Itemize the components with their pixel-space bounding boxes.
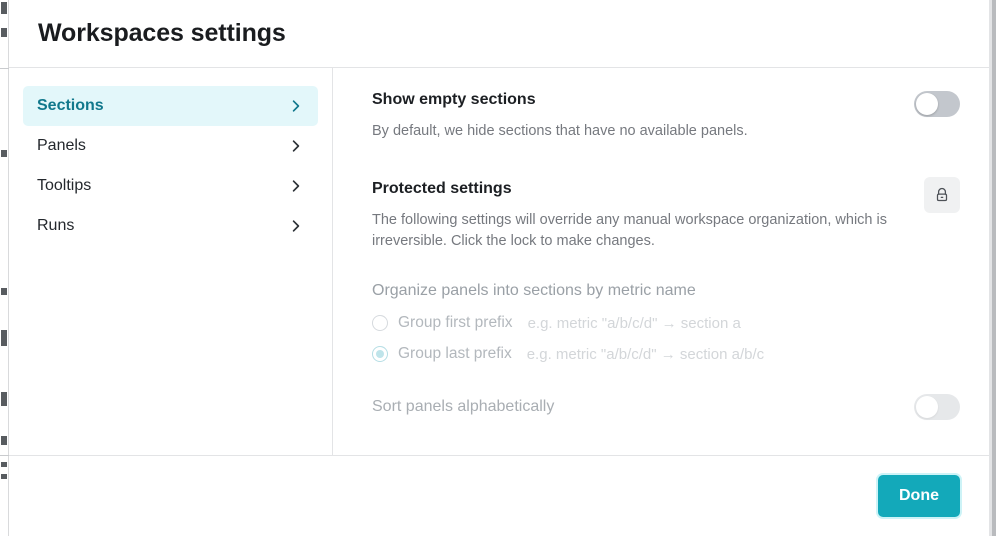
radio-option-group-first-prefix[interactable]: Group first prefix e.g. metric "a/b/c/d"… — [372, 314, 960, 332]
lock-closed-icon — [933, 186, 951, 204]
chevron-right-icon — [288, 138, 304, 154]
sidebar-item-label: Sections — [37, 97, 104, 115]
show-empty-sections-title: Show empty sections — [372, 90, 748, 110]
radio-option-group-last-prefix[interactable]: Group last prefix e.g. metric "a/b/c/d" … — [372, 345, 960, 363]
sidebar-item-label: Tooltips — [37, 177, 91, 195]
lock-toggle-button[interactable] — [924, 177, 960, 213]
radio-button-selected[interactable] — [372, 346, 388, 362]
show-empty-sections-toggle[interactable] — [914, 91, 960, 117]
settings-content: Show empty sections By default, we hide … — [333, 68, 989, 455]
organize-panels-heading: Organize panels into sections by metric … — [372, 281, 960, 301]
settings-sidebar: Sections Panels Tooltips — [9, 68, 333, 455]
radio-hint: e.g. metric "a/b/c/d" → section a/b/c — [527, 346, 764, 363]
workspaces-settings-modal: Workspaces settings Sections Panels — [9, 0, 989, 536]
chevron-right-icon — [288, 98, 304, 114]
show-empty-sections-setting: Show empty sections By default, we hide … — [372, 90, 960, 142]
radio-label: Group first prefix — [398, 314, 513, 332]
sidebar-item-panels[interactable]: Panels — [23, 126, 318, 166]
sort-panels-toggle[interactable] — [914, 394, 960, 420]
protected-settings-title: Protected settings — [372, 179, 892, 199]
organize-panels-group: Organize panels into sections by metric … — [372, 281, 960, 363]
spacer — [372, 142, 960, 179]
protected-settings-description: The following settings will override any… — [372, 210, 892, 252]
toggle-knob — [916, 396, 938, 418]
radio-label: Group last prefix — [398, 345, 512, 363]
sort-panels-alphabetically-setting: Sort panels alphabetically — [372, 393, 960, 420]
sidebar-item-sections[interactable]: Sections — [23, 86, 318, 126]
radio-hint: e.g. metric "a/b/c/d" → section a — [528, 315, 741, 332]
done-button[interactable]: Done — [878, 475, 960, 517]
sidebar-item-label: Runs — [37, 217, 74, 235]
modal-header: Workspaces settings — [9, 0, 989, 68]
modal-footer: Done — [9, 456, 989, 536]
protected-settings-setting: Protected settings The following setting… — [372, 179, 960, 252]
chevron-right-icon — [288, 218, 304, 234]
toggle-knob — [916, 93, 938, 115]
page-title: Workspaces settings — [38, 19, 286, 48]
sort-panels-label: Sort panels alphabetically — [372, 398, 554, 416]
sidebar-item-tooltips[interactable]: Tooltips — [23, 166, 318, 206]
sidebar-item-runs[interactable]: Runs — [23, 206, 318, 246]
radio-button-unselected[interactable] — [372, 315, 388, 331]
right-edge-scrollbar[interactable] — [992, 0, 996, 536]
sidebar-item-label: Panels — [37, 137, 86, 155]
modal-body: Sections Panels Tooltips — [9, 68, 989, 456]
chevron-right-icon — [288, 178, 304, 194]
show-empty-sections-description: By default, we hide sections that have n… — [372, 121, 748, 142]
